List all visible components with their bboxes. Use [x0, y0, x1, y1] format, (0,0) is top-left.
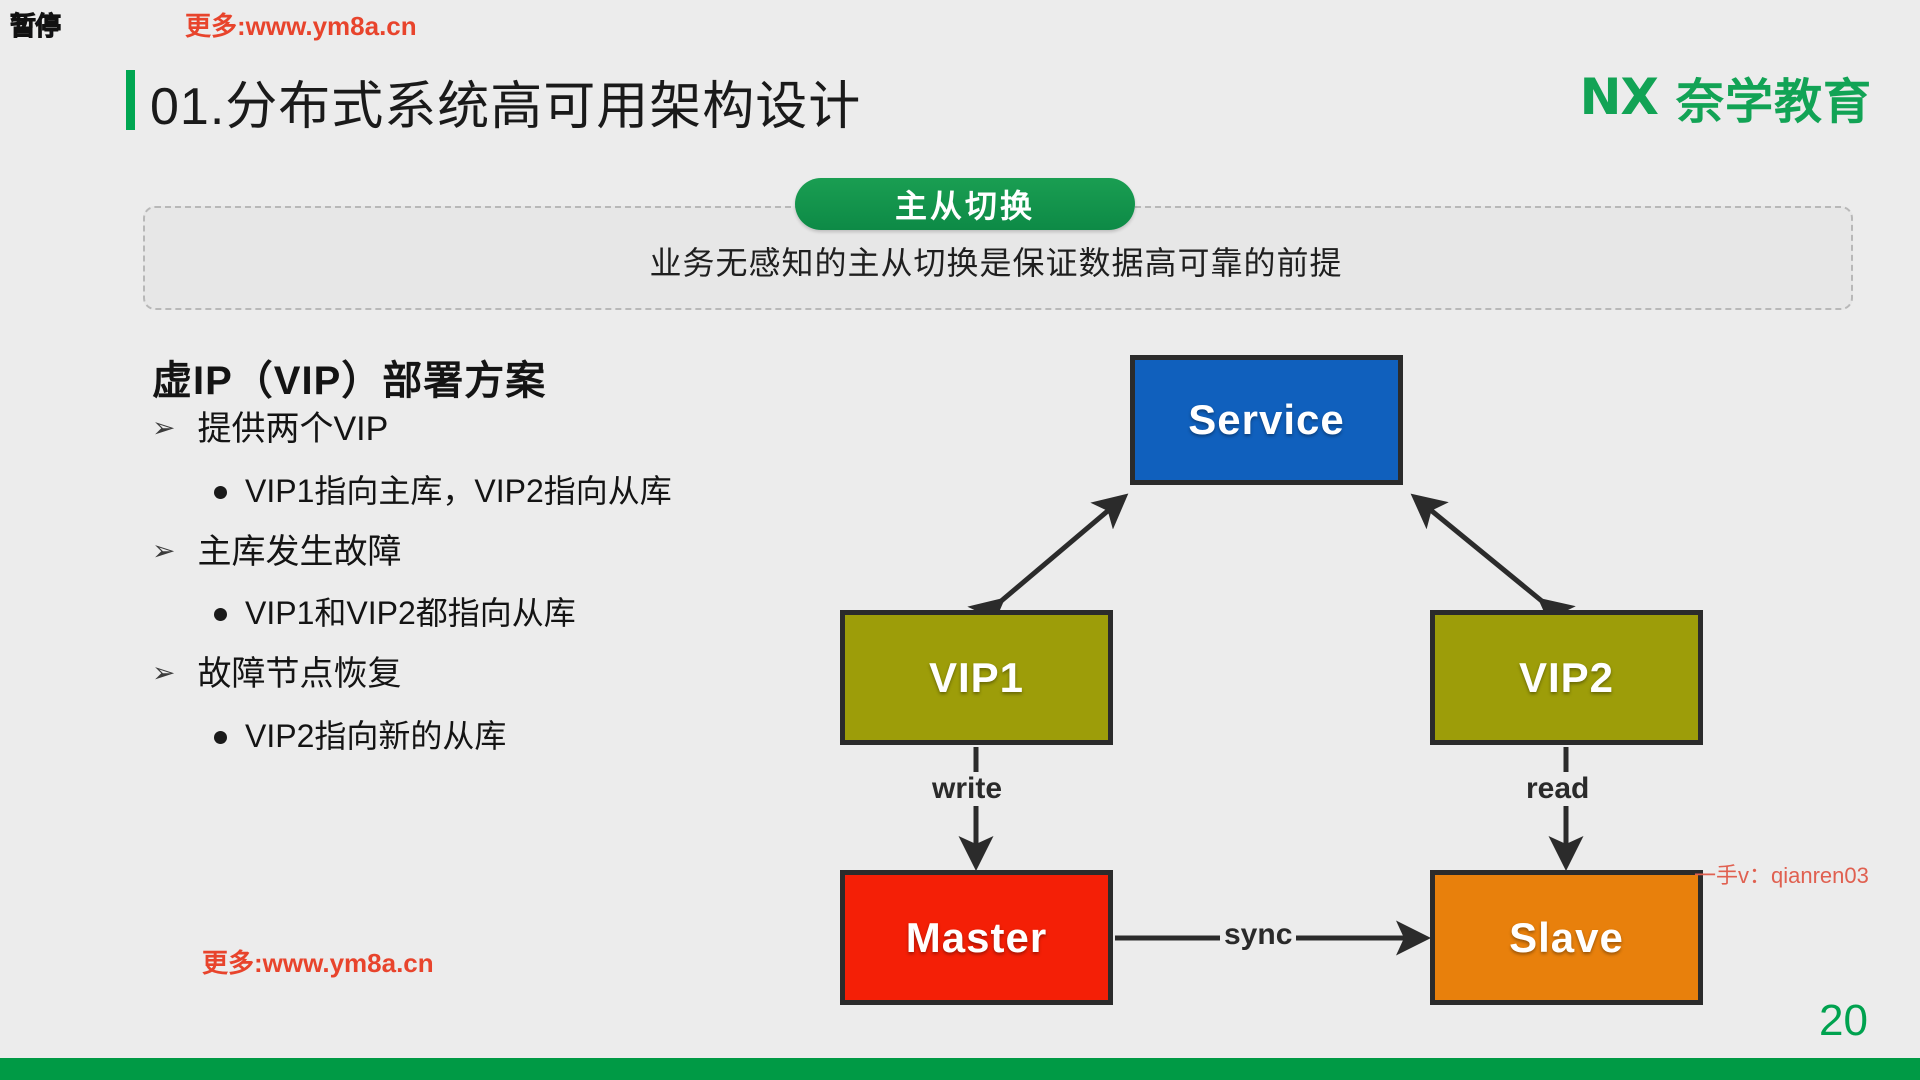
node-service[interactable]: Service: [1130, 355, 1403, 485]
node-slave[interactable]: Slave: [1430, 870, 1703, 1005]
title-accent-bar: [126, 70, 135, 130]
chevron-bullet-icon: ➢: [152, 408, 175, 449]
list-item: VIP1和VIP2都指向从库: [214, 593, 872, 633]
banner-badge: 主从切换: [795, 178, 1135, 230]
list-item-label: VIP1和VIP2都指向从库: [245, 593, 576, 633]
dot-bullet-icon: [214, 731, 227, 744]
edge-vip1-service: [1000, 498, 1123, 602]
top-url-watermark: 更多:www.ym8a.cn: [185, 6, 417, 43]
node-vip1[interactable]: VIP1: [840, 610, 1113, 745]
list-item-label: 主库发生故障: [197, 531, 401, 574]
slide-root: 暂停 更多:www.ym8a.cn 01.分布式系统高可用架构设计 NX 奈学教…: [0, 0, 1920, 1080]
brand-name: 奈学教育: [1676, 62, 1872, 132]
page-number: 20: [1819, 996, 1868, 1046]
bullet-list: ➢ 提供两个VIP VIP1指向主库，VIP2指向从库 ➢ 主库发生故障 VIP…: [152, 408, 872, 776]
node-master[interactable]: Master: [840, 870, 1113, 1005]
node-vip1-label: VIP1: [929, 654, 1024, 702]
banner-subtitle: 业务无感知的主从切换是保证数据高可靠的前提: [143, 238, 1849, 284]
dot-bullet-icon: [214, 486, 227, 499]
brand-logo: NX 奈学教育: [1580, 62, 1872, 132]
edge-label-write: write: [928, 772, 1006, 806]
list-item-label: VIP1指向主库，VIP2指向从库: [245, 471, 672, 511]
edge-label-sync: sync: [1220, 918, 1296, 952]
chevron-bullet-icon: ➢: [152, 531, 175, 572]
node-slave-label: Slave: [1509, 914, 1624, 962]
list-item: VIP2指向新的从库: [214, 716, 872, 756]
list-item-label: VIP2指向新的从库: [245, 716, 506, 756]
node-vip2-label: VIP2: [1519, 654, 1614, 702]
footer-bar: [0, 1058, 1920, 1080]
node-vip2[interactable]: VIP2: [1430, 610, 1703, 745]
node-master-label: Master: [906, 914, 1047, 962]
contact-watermark: 一手v：qianren03: [1694, 858, 1869, 890]
edge-vip2-service: [1416, 498, 1543, 602]
list-item: VIP1指向主库，VIP2指向从库: [214, 471, 872, 511]
list-item-label: 提供两个VIP: [197, 408, 388, 451]
list-item: ➢ 提供两个VIP: [152, 408, 872, 451]
node-service-label: Service: [1188, 396, 1344, 444]
list-item: ➢ 主库发生故障: [152, 531, 872, 574]
brand-mark-icon: NX: [1580, 68, 1658, 126]
edge-label-read: read: [1522, 772, 1593, 806]
section-heading: 虚IP（VIP）部署方案: [152, 348, 546, 406]
chevron-bullet-icon: ➢: [152, 653, 175, 694]
banner-badge-label: 主从切换: [895, 181, 1035, 227]
architecture-diagram: Service VIP1 VIP2 Master Slave write rea…: [840, 340, 1700, 1060]
dot-bullet-icon: [214, 608, 227, 621]
list-item: ➢ 故障节点恢复: [152, 653, 872, 696]
pause-watermark: 暂停: [10, 6, 60, 43]
bottom-url-watermark: 更多:www.ym8a.cn: [202, 943, 434, 980]
list-item-label: 故障节点恢复: [197, 653, 401, 696]
page-title: 01.分布式系统高可用架构设计: [150, 64, 861, 139]
